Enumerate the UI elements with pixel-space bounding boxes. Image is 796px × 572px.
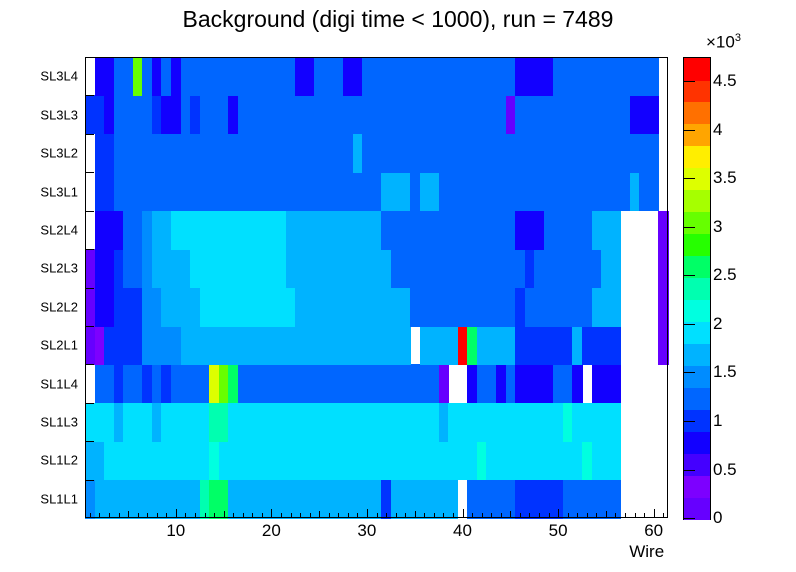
- x-axis-tick: [214, 513, 215, 518]
- y-axis-tick: [85, 288, 94, 289]
- colorbar-tick-label: 4: [713, 120, 722, 140]
- colorbar-band: [684, 343, 710, 366]
- x-axis-tick: [539, 513, 540, 518]
- x-axis-tick: [109, 513, 110, 518]
- colorbar-band: [684, 124, 710, 147]
- heatmap-cell: [649, 57, 659, 96]
- heatmap-cell: [611, 249, 621, 288]
- colorbar-tick-label: 1: [713, 411, 722, 431]
- x-axis-tick-label: 40: [453, 521, 472, 541]
- colorbar-tick: [683, 470, 695, 471]
- y-axis-label: SL2L3: [40, 261, 78, 276]
- heatmap-plot-area[interactable]: [85, 57, 668, 518]
- x-axis-tick: [348, 513, 349, 518]
- x-axis-tick: [625, 513, 626, 518]
- heatmap-cell: [649, 172, 659, 211]
- colorbar-tick-label: 2.5: [713, 265, 737, 285]
- x-axis-tick: [233, 513, 234, 518]
- x-axis-tick: [596, 513, 597, 518]
- x-axis-tick: [291, 513, 292, 518]
- x-axis-tick: [185, 513, 186, 518]
- x-axis-tick: [654, 509, 655, 518]
- y-axis-tick: [85, 364, 94, 365]
- colorbar-tick-label: 3.5: [713, 168, 737, 188]
- x-axis-tick: [568, 513, 569, 518]
- x-axis-title: Wire: [629, 542, 664, 562]
- x-axis-tick: [635, 513, 636, 518]
- x-axis-tick: [300, 513, 301, 518]
- x-axis-tick: [463, 509, 464, 518]
- x-axis-tick: [520, 513, 521, 518]
- y-axis-label: SL2L4: [40, 222, 78, 237]
- x-axis-tick: [138, 513, 139, 518]
- x-axis-tick: [367, 509, 368, 518]
- x-axis-tick: [587, 513, 588, 518]
- x-axis-tick: [329, 513, 330, 518]
- y-axis-label: SL2L1: [40, 338, 78, 353]
- colorbar-tick: [683, 275, 695, 276]
- x-axis-tick: [224, 511, 225, 518]
- y-axis-label: SL1L4: [40, 376, 78, 391]
- colorbar-band: [684, 212, 710, 235]
- y-axis-tick: [85, 172, 94, 173]
- x-axis-tick: [491, 513, 492, 518]
- x-axis-tick: [453, 513, 454, 518]
- heatmap-cells: [85, 57, 668, 518]
- x-axis-tick: [396, 513, 397, 518]
- x-axis-tick: [205, 513, 206, 518]
- y-axis-label: SL3L3: [40, 107, 78, 122]
- x-axis-tick: [90, 513, 91, 518]
- x-axis-tick: [415, 511, 416, 518]
- heatmap-cell: [611, 211, 621, 250]
- y-axis-tick: [85, 441, 94, 442]
- colorbar-band: [684, 80, 710, 103]
- x-axis-tick: [338, 513, 339, 518]
- x-axis-tick: [424, 513, 425, 518]
- x-axis-tick: [606, 511, 607, 518]
- colorbar-band: [684, 190, 710, 213]
- heatmap-cell: [649, 95, 659, 134]
- colorbar-band: [684, 475, 710, 498]
- colorbar-tick: [683, 227, 695, 228]
- colorbar-tick-label: 0.5: [713, 460, 737, 480]
- heatmap-cell: [649, 134, 659, 173]
- colorbar-tick: [683, 518, 695, 519]
- colorbar-tick-label: 2: [713, 314, 722, 334]
- x-axis-tick: [529, 513, 530, 518]
- x-axis-tick: [434, 513, 435, 518]
- x-axis-tick: [549, 513, 550, 518]
- colorbar[interactable]: [683, 57, 711, 520]
- x-axis-tick: [128, 511, 129, 518]
- colorbar-tick-label: 1.5: [713, 362, 737, 382]
- x-axis-tick: [119, 513, 120, 518]
- y-axis-tick: [85, 211, 94, 212]
- colorbar-tick-label: 4.5: [713, 71, 737, 91]
- heatmap-cell: [439, 364, 449, 403]
- colorbar-band: [684, 234, 710, 257]
- y-axis-tick: [85, 249, 94, 250]
- x-axis-tick: [99, 513, 100, 518]
- colorbar-tick: [683, 421, 695, 422]
- heatmap-cell: [572, 364, 582, 403]
- colorbar-band: [684, 146, 710, 169]
- heatmap-cell: [611, 326, 621, 365]
- x-axis-tick: [377, 513, 378, 518]
- x-axis-tick: [310, 513, 311, 518]
- x-axis-tick: [281, 513, 282, 518]
- colorbar-tick-label: 0: [713, 508, 722, 528]
- y-axis-tick: [85, 480, 94, 481]
- y-axis-tick: [85, 95, 94, 96]
- x-axis-tick: [577, 513, 578, 518]
- y-axis-tick: [85, 326, 94, 327]
- y-axis-label: SL3L2: [40, 146, 78, 161]
- x-axis-tick: [386, 513, 387, 518]
- colorbar-tick: [683, 324, 695, 325]
- x-axis-tick: [558, 509, 559, 518]
- y-axis-label: SL3L1: [40, 184, 78, 199]
- x-axis-tick: [157, 513, 158, 518]
- heatmap-cell: [400, 326, 410, 365]
- heatmap-cell: [611, 403, 621, 442]
- x-axis-tick: [443, 513, 444, 518]
- x-axis-tick: [195, 513, 196, 518]
- x-axis-tick: [319, 511, 320, 518]
- x-axis-tick-label: 60: [644, 521, 663, 541]
- colorbar-band: [684, 278, 710, 301]
- x-axis-tick: [615, 513, 616, 518]
- x-axis-tick: [405, 513, 406, 518]
- x-axis-tick: [262, 513, 263, 518]
- heatmap-cell: [611, 288, 621, 327]
- heatmap-cell: [611, 441, 621, 480]
- x-axis-tick: [176, 509, 177, 518]
- y-axis-labels: SL1L1SL1L2SL1L3SL1L4SL2L1SL2L2SL2L3SL2L4…: [0, 57, 78, 518]
- colorbar-tick: [683, 130, 695, 131]
- y-axis-tick: [85, 134, 94, 135]
- colorbar-tick: [683, 178, 695, 179]
- heatmap-cell: [658, 211, 668, 250]
- x-axis-tick-label: 50: [549, 521, 568, 541]
- chart-canvas: Background (digi time < 1000), run = 748…: [0, 0, 796, 572]
- y-axis-label: SL1L1: [40, 491, 78, 506]
- x-axis-tick: [166, 513, 167, 518]
- y-axis-label: SL1L2: [40, 453, 78, 468]
- y-axis-tick: [85, 403, 94, 404]
- y-axis-label: SL1L3: [40, 415, 78, 430]
- colorbar-band: [684, 453, 710, 476]
- x-axis-tick: [252, 513, 253, 518]
- heatmap-cell: [658, 288, 668, 327]
- x-axis-tick-label: 30: [357, 521, 376, 541]
- x-axis-tick: [472, 513, 473, 518]
- colorbar-tick: [683, 81, 695, 82]
- colorbar-band: [684, 299, 710, 322]
- colorbar-exponent-label: ×103: [706, 32, 741, 53]
- y-axis-label: SL3L4: [40, 69, 78, 84]
- x-axis-tick: [357, 513, 358, 518]
- x-axis-tick: [663, 513, 664, 518]
- colorbar-band: [684, 497, 710, 520]
- colorbar-band: [684, 431, 710, 454]
- x-axis-tick: [243, 513, 244, 518]
- x-axis-tick: [147, 513, 148, 518]
- colorbar-band: [684, 58, 710, 81]
- y-axis-label: SL2L2: [40, 299, 78, 314]
- x-axis-tick-label: 10: [166, 521, 185, 541]
- heatmap-cell: [658, 326, 668, 365]
- colorbar-band: [684, 102, 710, 125]
- x-axis-tick: [510, 511, 511, 518]
- x-axis-tick-label: 20: [262, 521, 281, 541]
- x-axis-tick: [271, 509, 272, 518]
- heatmap-cell: [658, 249, 668, 288]
- colorbar-band: [684, 365, 710, 388]
- x-axis-tick: [501, 513, 502, 518]
- x-axis-tick: [644, 513, 645, 518]
- colorbar-tick-label: 3: [713, 217, 722, 237]
- x-axis-tick: [482, 513, 483, 518]
- colorbar-tick: [683, 372, 695, 373]
- heatmap-cell: [611, 364, 621, 403]
- chart-title: Background (digi time < 1000), run = 748…: [0, 6, 796, 33]
- colorbar-band: [684, 387, 710, 410]
